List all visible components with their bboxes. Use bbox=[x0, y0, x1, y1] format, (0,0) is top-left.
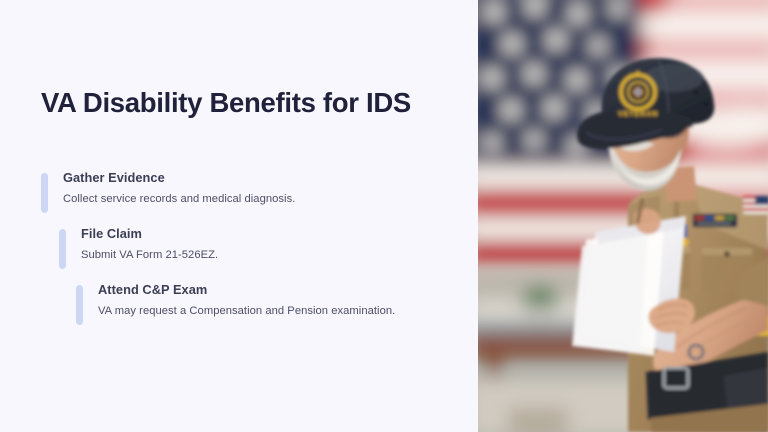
list-item: Gather Evidence Collect service records … bbox=[0, 170, 478, 226]
step-heading: Attend C&P Exam bbox=[98, 282, 478, 298]
step-text: Gather Evidence Collect service records … bbox=[41, 170, 478, 207]
step-description: VA may request a Compensation and Pensio… bbox=[98, 298, 478, 319]
step-heading: Gather Evidence bbox=[63, 170, 478, 186]
list-item: File Claim Submit VA Form 21-526EZ. bbox=[0, 226, 478, 282]
step-heading: File Claim bbox=[81, 226, 478, 242]
accent-bar-icon bbox=[76, 285, 83, 325]
steps-list: Gather Evidence Collect service records … bbox=[0, 170, 478, 338]
step-description: Collect service records and medical diag… bbox=[63, 186, 478, 207]
step-text: File Claim Submit VA Form 21-526EZ. bbox=[59, 226, 478, 263]
slide-root: VA Disability Benefits for IDS Gather Ev… bbox=[0, 0, 768, 432]
list-item: Attend C&P Exam VA may request a Compens… bbox=[0, 282, 478, 338]
accent-bar-icon bbox=[59, 229, 66, 269]
veteran-photo: VETERAN bbox=[478, 0, 768, 432]
accent-bar-icon bbox=[41, 173, 48, 213]
step-text: Attend C&P Exam VA may request a Compens… bbox=[76, 282, 478, 319]
step-description: Submit VA Form 21-526EZ. bbox=[81, 242, 478, 263]
page-title: VA Disability Benefits for IDS bbox=[41, 85, 413, 121]
veteran-photo-image: VETERAN bbox=[478, 0, 768, 432]
content-panel: VA Disability Benefits for IDS Gather Ev… bbox=[0, 0, 478, 432]
